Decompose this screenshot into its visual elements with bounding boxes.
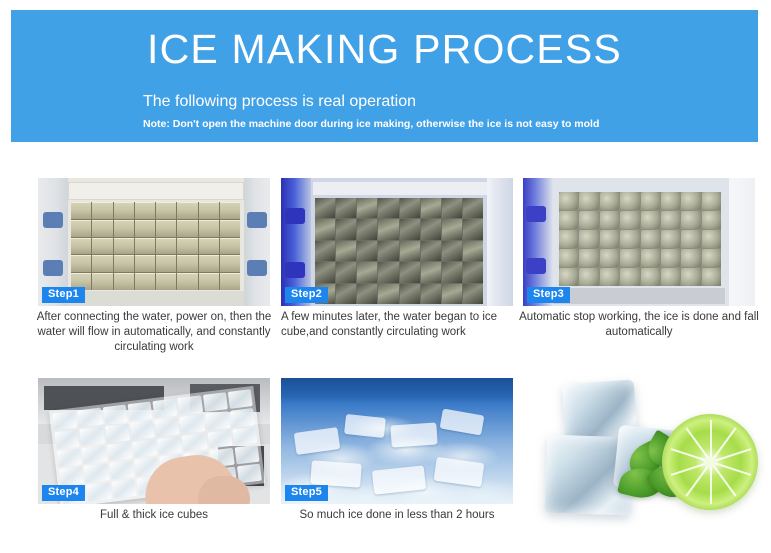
step-badge-4: Step4 <box>42 485 85 501</box>
step-3-photo: Step3 <box>523 178 755 306</box>
ice-making-process-page: ICE MAKING PROCESS The following process… <box>0 0 771 553</box>
machine-bottom-lip <box>553 288 725 304</box>
ice-tray-grid <box>559 192 721 286</box>
step-badge-3: Step3 <box>527 287 570 303</box>
machine-hinge <box>43 212 63 228</box>
step-caption-2: A few minutes later, the water began to … <box>281 310 517 340</box>
banner-subtitle: The following process is real operation <box>143 92 416 112</box>
step-5-photo: Step5 <box>281 378 513 504</box>
step-card-1: Step1 After connecting the water, power … <box>38 178 270 306</box>
machine-hinge <box>285 262 305 278</box>
machine-topbar <box>313 182 487 195</box>
banner-note: Note: Don't open the machine door during… <box>143 117 599 131</box>
machine-frame-right <box>487 178 513 306</box>
step-badge-1: Step1 <box>42 287 85 303</box>
lime-half-icon <box>662 414 758 510</box>
step-card-5: Step5 So much ice done in less than 2 ho… <box>281 378 513 504</box>
step-caption-3: Automatic stop working, the ice is done … <box>519 310 759 340</box>
machine-hinge <box>43 260 63 276</box>
step-1-photo: Step1 <box>38 178 270 306</box>
step-card-2: Step2 A few minutes later, the water beg… <box>281 178 513 306</box>
machine-topbar <box>68 182 244 200</box>
header-banner: ICE MAKING PROCESS The following process… <box>11 10 758 142</box>
ice-tray-grid <box>71 202 240 290</box>
decorative-ice-lime-image <box>524 372 762 518</box>
machine-frame-right <box>244 178 270 306</box>
machine-hinge <box>526 258 546 274</box>
machine-hinge <box>285 208 305 224</box>
step-card-3: Step3 Automatic stop working, the ice is… <box>523 178 755 306</box>
ice-tray-grid <box>315 198 483 304</box>
step-card-4: Step4 Full & thick ice cubes <box>38 378 270 504</box>
machine-hinge <box>526 206 546 222</box>
step-2-photo: Step2 <box>281 178 513 306</box>
step-badge-5: Step5 <box>285 485 328 501</box>
machine-hinge <box>247 212 267 228</box>
page-title: ICE MAKING PROCESS <box>11 24 758 74</box>
step-badge-2: Step2 <box>285 287 328 303</box>
step-caption-4: Full & thick ice cubes <box>34 508 274 523</box>
step-4-photo: Step4 <box>38 378 270 504</box>
machine-frame-right <box>729 178 755 306</box>
step-caption-5: So much ice done in less than 2 hours <box>277 508 517 523</box>
step-caption-1: After connecting the water, power on, th… <box>34 310 274 355</box>
machine-bottom-lip <box>68 291 244 306</box>
machine-hinge <box>247 260 267 276</box>
